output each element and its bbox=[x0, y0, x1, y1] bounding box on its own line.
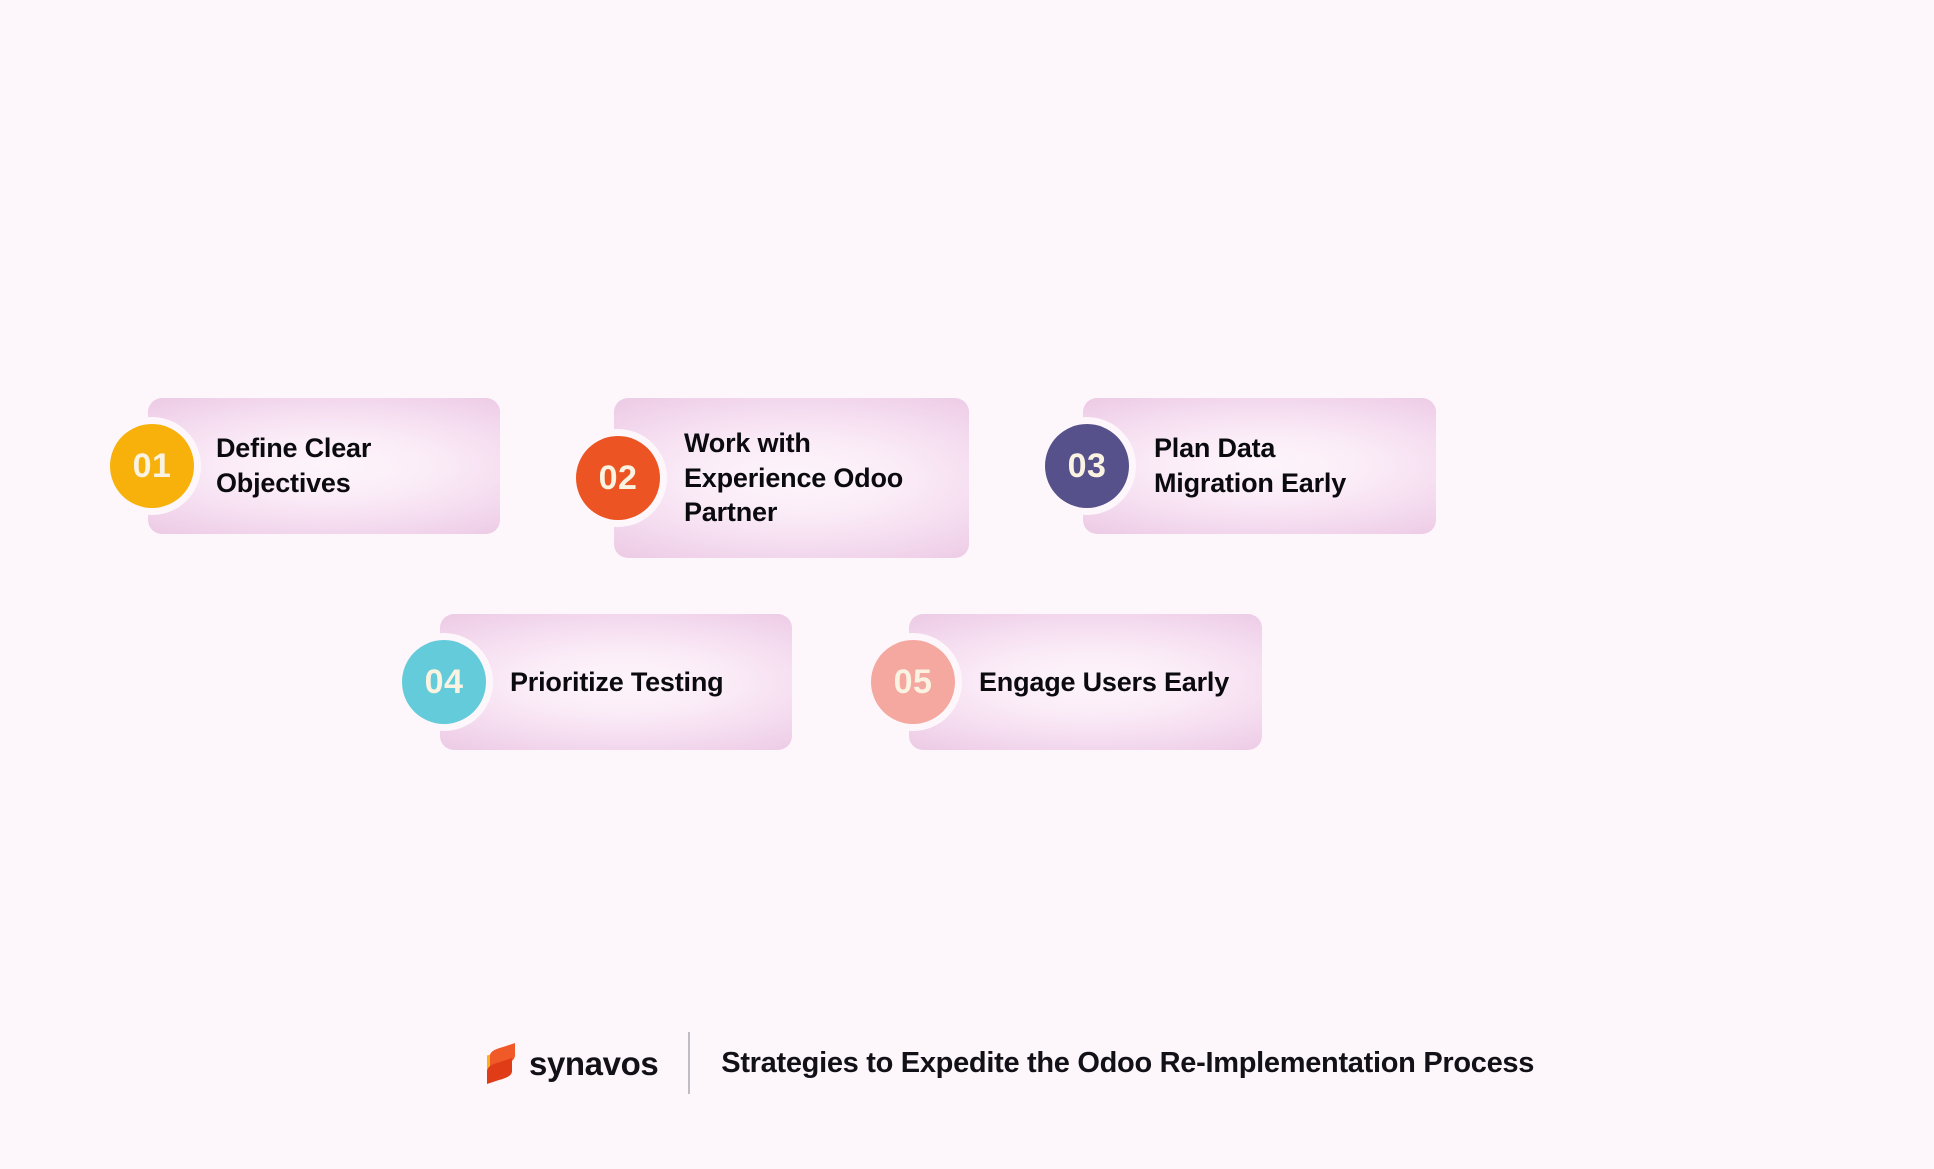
footer-divider bbox=[688, 1032, 690, 1094]
synavos-logo-icon bbox=[484, 1041, 518, 1086]
steps-row-top: Define Clear Objectives 01 Work with Exp… bbox=[148, 398, 1436, 558]
step-card-01[interactable]: Define Clear Objectives bbox=[148, 398, 500, 534]
step-card-04[interactable]: Prioritize Testing bbox=[440, 614, 792, 750]
step-card-03[interactable]: Plan Data Migration Early bbox=[1083, 398, 1436, 534]
step-item-03[interactable]: Plan Data Migration Early 03 bbox=[1083, 398, 1436, 534]
footer-tagline: Strategies to Expedite the Odoo Re-Imple… bbox=[721, 1049, 1534, 1078]
step-number-05: 05 bbox=[894, 665, 933, 699]
step-number-02: 02 bbox=[599, 461, 638, 495]
step-item-01[interactable]: Define Clear Objectives 01 bbox=[148, 398, 500, 534]
step-item-05[interactable]: Engage Users Early 05 bbox=[909, 614, 1262, 750]
step-label-01: Define Clear Objectives bbox=[216, 431, 371, 500]
step-badge-02[interactable]: 02 bbox=[576, 436, 660, 520]
step-badge-04[interactable]: 04 bbox=[402, 640, 486, 724]
step-label-02: Work with Experience Odoo Partner bbox=[684, 426, 903, 530]
footer: synavos Strategies to Expedite the Odoo … bbox=[484, 1035, 1534, 1091]
step-number-04: 04 bbox=[425, 665, 464, 699]
step-number-01: 01 bbox=[133, 449, 172, 483]
step-label-05: Engage Users Early bbox=[979, 665, 1229, 700]
step-card-05[interactable]: Engage Users Early bbox=[909, 614, 1262, 750]
step-badge-05[interactable]: 05 bbox=[871, 640, 955, 724]
step-item-02[interactable]: Work with Experience Odoo Partner 02 bbox=[614, 398, 969, 558]
step-label-03: Plan Data Migration Early bbox=[1154, 431, 1346, 500]
step-number-03: 03 bbox=[1068, 449, 1107, 483]
synavos-wordmark: synavos bbox=[529, 1047, 658, 1080]
steps-row-bottom: Prioritize Testing 04 Engage Users Early… bbox=[440, 614, 1262, 750]
infographic-canvas: Define Clear Objectives 01 Work with Exp… bbox=[0, 0, 1934, 1169]
step-badge-03[interactable]: 03 bbox=[1045, 424, 1129, 508]
step-label-04: Prioritize Testing bbox=[510, 665, 723, 700]
step-item-04[interactable]: Prioritize Testing 04 bbox=[440, 614, 792, 750]
step-badge-01[interactable]: 01 bbox=[110, 424, 194, 508]
step-card-02[interactable]: Work with Experience Odoo Partner bbox=[614, 398, 969, 558]
